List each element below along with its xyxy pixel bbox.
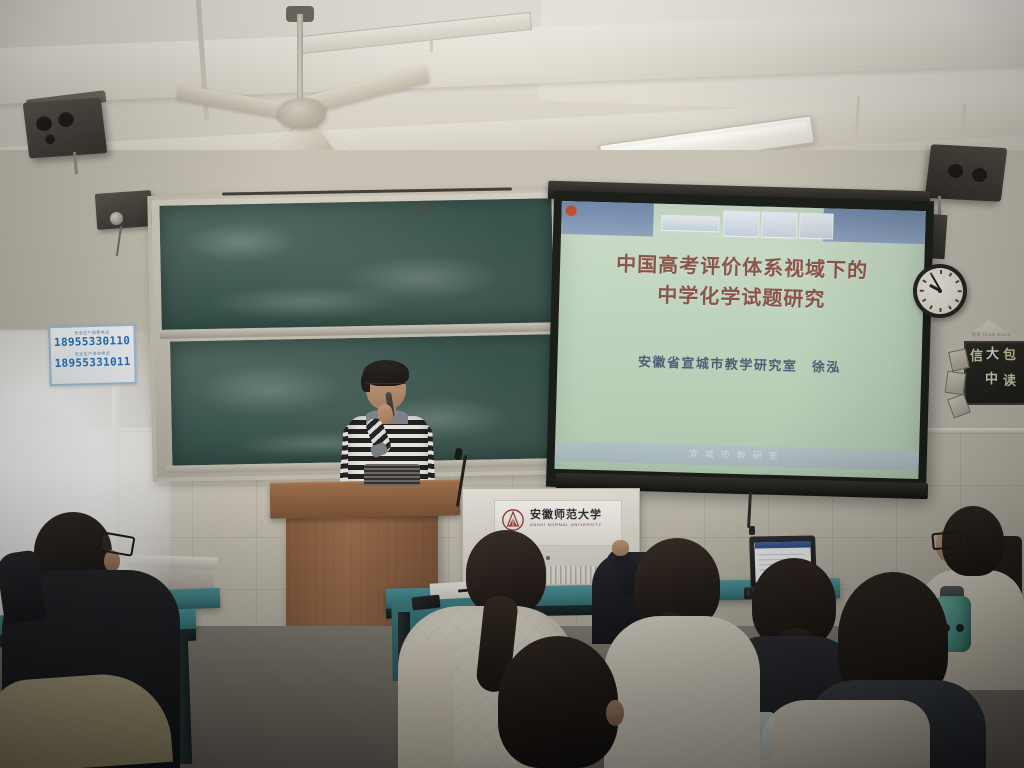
glasses-icon [931, 531, 962, 551]
classroom-photo: 安全生产报警电话 18955330110 安全生产咨询电话 1895533101… [0, 0, 1024, 768]
blackboard-panel-upper [159, 198, 553, 330]
person-shoulder [400, 640, 454, 768]
podium-top [270, 481, 461, 518]
slide-logo-icon [566, 205, 577, 216]
slide-footer-text: 宣城市教研室 [555, 441, 919, 471]
person-hand [612, 540, 629, 556]
decor-character: 读 [1003, 370, 1016, 389]
ceiling-fan-motor [278, 98, 326, 128]
decor-character: 大 [986, 343, 999, 362]
clock-center-pin [938, 289, 942, 293]
projector-lens-icon [110, 212, 123, 225]
banner-thumbnail [799, 213, 834, 240]
projection-screen: 中国高考评价体系视域下的 中学化学试题研究 安徽省宣城市教学研究室 徐泓 宣城市… [546, 191, 934, 497]
slide-author-line: 安徽省宣城市教学研究室 徐泓 [571, 349, 907, 377]
glasses-icon [366, 383, 406, 391]
slide-header-banner [561, 201, 926, 244]
decor-character: 包 [1003, 344, 1016, 363]
wall-speaker-right [925, 144, 1008, 202]
wall-notice-sign: 安全生产报警电话 18955330110 安全生产咨询电话 1895533101… [48, 324, 137, 386]
audience-person [760, 700, 930, 768]
bottle-decor-eye [956, 624, 964, 632]
audience-person [604, 616, 760, 768]
university-logo-subtext: ANHUI NORMAL UNIVERSITY [530, 522, 618, 527]
university-emblem-icon [502, 508, 524, 532]
banner-thumbnail [761, 212, 798, 239]
decor-character: 中 [985, 368, 998, 387]
slide-title: 中国高考评价体系视域下的 中学化学试题研究 [575, 247, 909, 316]
decor-character: 信 [970, 345, 983, 364]
clock-face [917, 268, 963, 314]
slide-footer-bar: 宣城市教研室 [555, 441, 919, 471]
laptop-window-titlebar [755, 542, 811, 549]
status-led-icon [546, 556, 550, 560]
banner-thumbnail [723, 210, 760, 237]
sign-number-bottom: 18955331011 [51, 356, 134, 370]
projector-icon [95, 190, 153, 230]
person-head [498, 636, 618, 768]
decor-figure [948, 348, 970, 371]
screen-pull-handle[interactable] [749, 526, 755, 535]
blackboard-roller-knob [415, 203, 428, 216]
decor-figure [945, 371, 967, 395]
microphone-coil [364, 464, 420, 486]
ceiling-fan-downrod [297, 14, 303, 102]
person-ear [606, 700, 624, 726]
sign-number-top: 18955330110 [51, 335, 134, 349]
banner-thumbnail [661, 215, 719, 233]
university-logo-text: 安徽师范大学 [530, 506, 616, 522]
slide-surface: 中国高考评价体系视域下的 中学化学试题研究 安徽省宣城市教学研究室 徐泓 宣城市… [554, 201, 925, 479]
wall-speaker-left [23, 97, 108, 158]
decor-roof-text: 我爱 Chalk Board [966, 332, 1016, 338]
